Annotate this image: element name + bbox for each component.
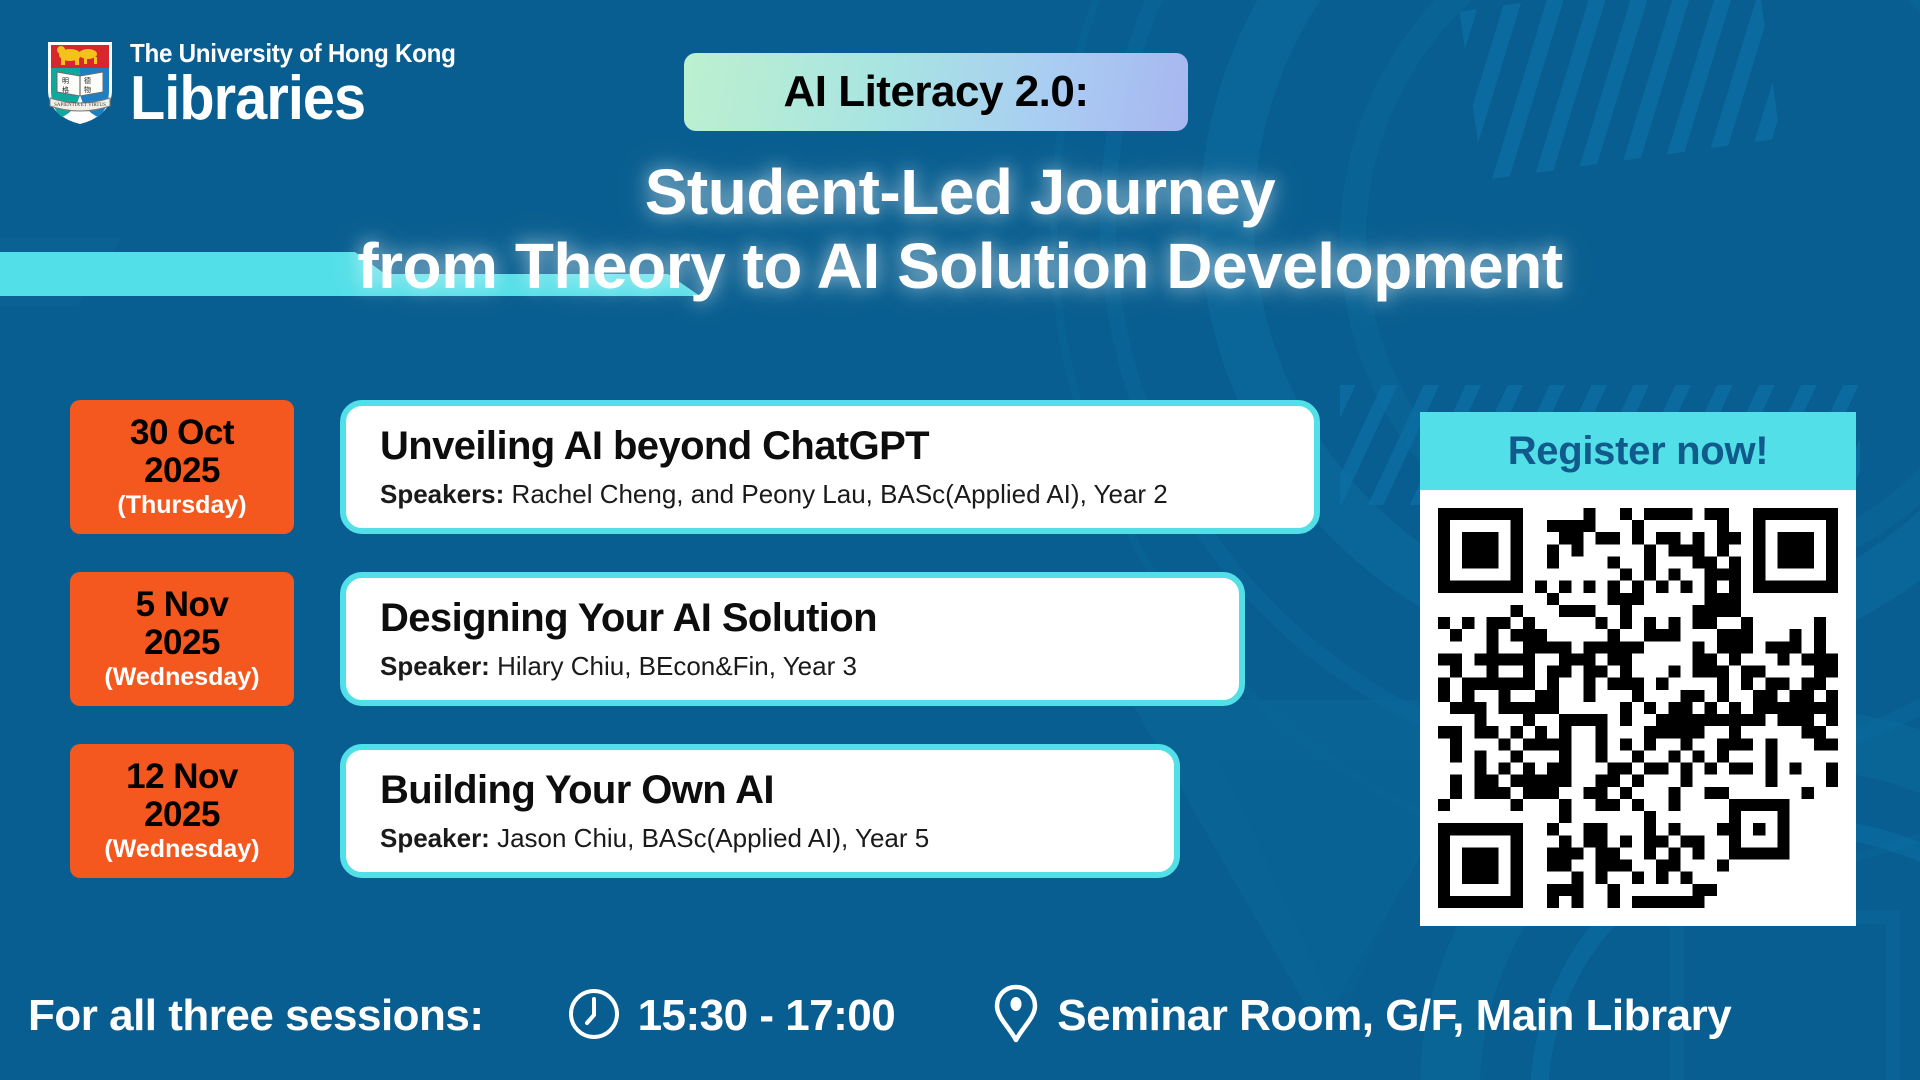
- series-badge: AI Literacy 2.0:: [684, 53, 1188, 131]
- session-speaker: Speaker: Hilary Chiu, BEcon&Fin, Year 3: [380, 651, 1205, 682]
- session-card: Unveiling AI beyond ChatGPT Speakers: Ra…: [340, 400, 1320, 534]
- session-title: Designing Your AI Solution: [380, 596, 1205, 641]
- footer-lead-text: For all three sessions:: [28, 991, 484, 1041]
- session-weekday: (Thursday): [117, 491, 246, 520]
- session-row: 30 Oct 2025 (Thursday) Unveiling AI beyo…: [70, 400, 1320, 534]
- session-title: Building Your Own AI: [380, 768, 1140, 813]
- session-row: 12 Nov 2025 (Wednesday) Building Your Ow…: [70, 744, 1320, 878]
- footer-time-group: 15:30 - 17:00: [566, 986, 896, 1047]
- session-speaker-label: Speaker:: [380, 651, 490, 681]
- session-date-line-2: 2025: [144, 452, 220, 490]
- session-speaker-names: Jason Chiu, BASc(Applied AI), Year 5: [490, 823, 929, 853]
- clock-icon: [566, 986, 622, 1047]
- svg-text:SAPIENTIA ET VIRTUS: SAPIENTIA ET VIRTUS: [54, 103, 106, 108]
- qr-code-container[interactable]: [1420, 490, 1856, 926]
- session-date-line-1: 12 Nov: [126, 758, 238, 796]
- session-weekday: (Wednesday): [104, 663, 259, 692]
- footer-bar: For all three sessions: 15:30 - 17:00 Se…: [0, 974, 1920, 1058]
- title-line-1: Student-Led Journey: [0, 160, 1920, 224]
- session-speaker-names: Rachel Cheng, and Peony Lau, BASc(Applie…: [504, 479, 1167, 509]
- session-card: Building Your Own AI Speaker: Jason Chiu…: [340, 744, 1180, 878]
- session-speaker-names: Hilary Chiu, BEcon&Fin, Year 3: [490, 651, 857, 681]
- register-heading: Register now!: [1508, 429, 1769, 474]
- register-panel[interactable]: Register now!: [1420, 412, 1856, 926]
- logo-libraries-line: Libraries: [130, 68, 456, 130]
- session-title: Unveiling AI beyond ChatGPT: [380, 424, 1280, 469]
- session-date-line-1: 5 Nov: [136, 586, 229, 624]
- session-weekday: (Wednesday): [104, 835, 259, 864]
- session-speaker-label: Speaker:: [380, 823, 490, 853]
- title-line-2: from Theory to AI Solution Development: [0, 234, 1920, 298]
- session-speaker-label: Speakers:: [380, 479, 504, 509]
- logo-university-line: The University of Hong Kong: [130, 40, 456, 66]
- hku-crest-icon: 明德 格物 SAPIENTIA ET VIRTUS: [44, 38, 116, 131]
- page-title: Student-Led Journey from Theory to AI So…: [0, 160, 1920, 298]
- session-date-line-1: 30 Oct: [130, 414, 234, 452]
- session-date-badge: 30 Oct 2025 (Thursday): [70, 400, 294, 534]
- hku-libraries-logo: 明德 格物 SAPIENTIA ET VIRTUS The University…: [44, 38, 480, 131]
- svg-text:德: 德: [84, 76, 91, 85]
- session-row: 5 Nov 2025 (Wednesday) Designing Your AI…: [70, 572, 1320, 706]
- svg-text:明: 明: [62, 77, 69, 85]
- session-date-line-2: 2025: [144, 796, 220, 834]
- session-date-badge: 12 Nov 2025 (Wednesday): [70, 744, 294, 878]
- register-heading-bar: Register now!: [1420, 412, 1856, 490]
- map-pin-icon: [991, 983, 1041, 1050]
- footer-venue: Seminar Room, G/F, Main Library: [1057, 991, 1731, 1041]
- session-date-badge: 5 Nov 2025 (Wednesday): [70, 572, 294, 706]
- svg-text:物: 物: [84, 85, 91, 94]
- session-date-line-2: 2025: [144, 624, 220, 662]
- session-speaker: Speaker: Jason Chiu, BASc(Applied AI), Y…: [380, 823, 1140, 854]
- footer-time: 15:30 - 17:00: [638, 991, 896, 1041]
- session-card: Designing Your AI Solution Speaker: Hila…: [340, 572, 1245, 706]
- qr-code-icon[interactable]: [1438, 508, 1838, 908]
- footer-venue-group: Seminar Room, G/F, Main Library: [991, 983, 1731, 1050]
- series-badge-label: AI Literacy 2.0:: [783, 67, 1088, 117]
- session-speaker: Speakers: Rachel Cheng, and Peony Lau, B…: [380, 479, 1280, 510]
- session-list: 30 Oct 2025 (Thursday) Unveiling AI beyo…: [70, 400, 1320, 878]
- svg-text:格: 格: [62, 85, 69, 94]
